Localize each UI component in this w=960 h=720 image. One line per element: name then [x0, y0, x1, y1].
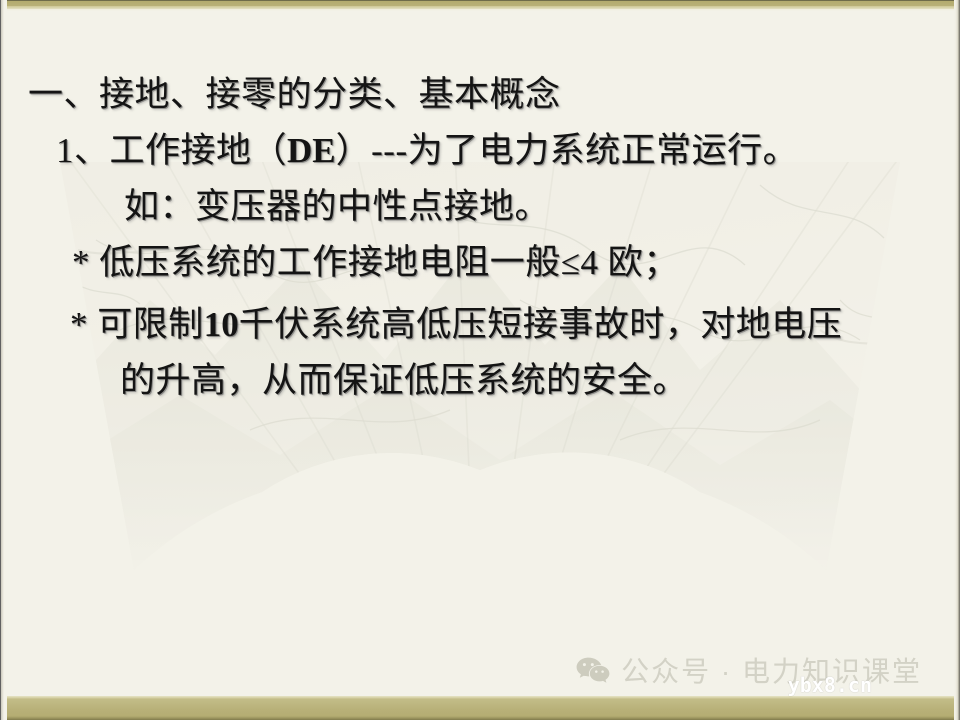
frame-right-edge — [954, 0, 960, 720]
watermark-label: 公众号 · 电力知识课堂 — [621, 650, 922, 690]
bullet-10kv-prefix: * 可限制 — [70, 305, 204, 344]
frame-bottom-band — [0, 696, 960, 720]
bullet-10kv-short-circuit: * 可限制10千伏系统高低压短接事故时，对地电压 — [70, 296, 842, 347]
list-item-working-ground: 1、工作接地（DE）---为了电力系统正常运行。 — [56, 122, 798, 173]
bullet-10kv-continuation: 的升高，从而保证低压系统的安全。 — [120, 352, 688, 403]
abbreviation-de: DE — [287, 131, 336, 170]
bullet-low-voltage-resistance: * 低压系统的工作接地电阻一般≤4 欧； — [72, 234, 679, 285]
site-watermark: ybx8.cn — [788, 673, 872, 697]
slide-heading: 一、接地、接零的分类、基本概念 — [28, 66, 561, 117]
example-transformer-neutral: 如：变压器的中性点接地。 — [124, 178, 550, 229]
frame-top-band — [0, 0, 960, 11]
presentation-slide: 一、接地、接零的分类、基本概念 1、工作接地（DE）---为了电力系统正常运行。… — [0, 0, 960, 720]
value-10-kilovolt: 10 — [204, 305, 239, 344]
bullet-10kv-suffix: 千伏系统高低压短接事故时，对地电压 — [239, 305, 843, 344]
frame-left-edge — [0, 0, 7, 720]
slide-body: 一、接地、接零的分类、基本概念 1、工作接地（DE）---为了电力系统正常运行。… — [0, 0, 960, 720]
list-item-working-ground-prefix: 1、工作接地（ — [56, 131, 287, 170]
list-item-working-ground-suffix: ）---为了电力系统正常运行。 — [336, 131, 798, 170]
wechat-icon — [576, 657, 610, 684]
